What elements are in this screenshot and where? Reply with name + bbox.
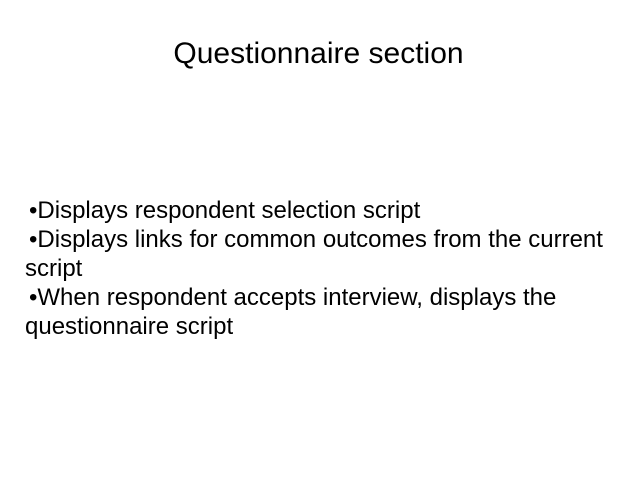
list-item: •Displays links for common outcomes from…: [25, 225, 617, 283]
page-title: Questionnaire section: [173, 37, 463, 70]
list-item-text: Displays respondent selection script: [37, 197, 420, 224]
list-item-text: When respondent accepts interview, displ…: [25, 284, 556, 340]
list-item: •When respondent accepts interview, disp…: [25, 283, 617, 341]
list-item-text: Displays links for common outcomes from …: [25, 226, 603, 282]
slide-title-block: Questionnaire section: [0, 36, 637, 72]
slide-body-block: •Displays respondent selection script •D…: [25, 196, 617, 341]
slide-canvas: Questionnaire section •Displays responde…: [0, 0, 640, 480]
list-item: •Displays respondent selection script: [25, 196, 617, 225]
